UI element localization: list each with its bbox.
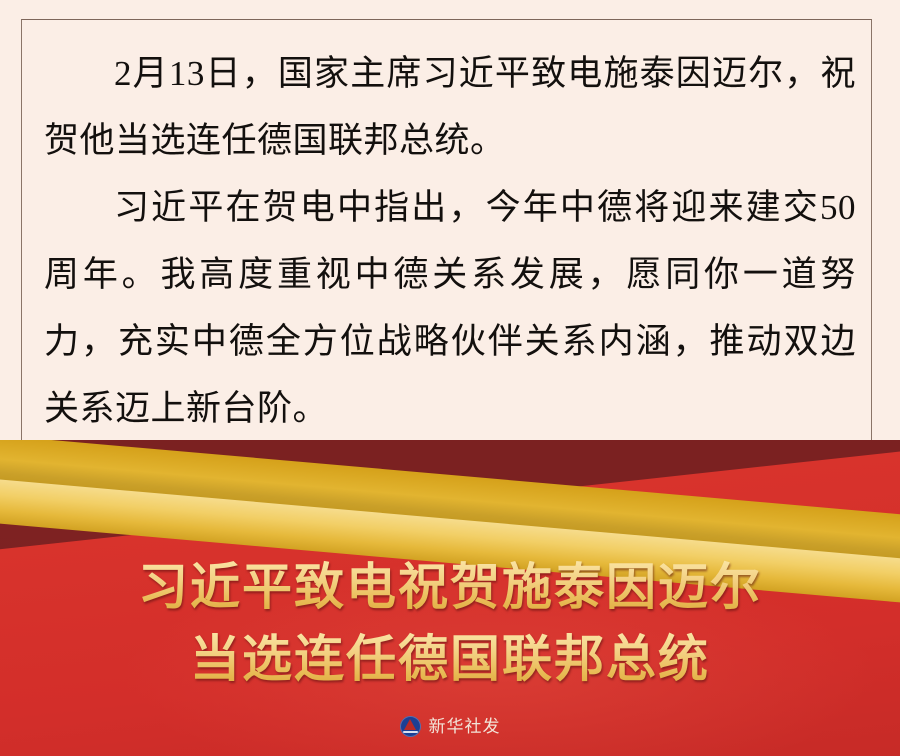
- headline-line-1: 习近平致电祝贺施泰因迈尔: [0, 558, 900, 616]
- paragraph-2: 习近平在贺电中指出，今年中德将迎来建交50周年。我高度重视中德关系发展，愿同你一…: [44, 174, 856, 442]
- article-body: 2月13日，国家主席习近平致电施泰因迈尔，祝贺他当选连任德国联邦总统。 习近平在…: [44, 40, 856, 442]
- news-poster: 2月13日，国家主席习近平致电施泰因迈尔，祝贺他当选连任德国联邦总统。 习近平在…: [0, 0, 900, 756]
- headline-line-2: 当选连任德国联邦总统: [0, 630, 900, 688]
- source-attribution: 新华社发: [0, 716, 900, 737]
- source-label: 新华社发: [429, 716, 501, 737]
- xinhua-logo-icon: [400, 716, 421, 737]
- headline: 习近平致电祝贺施泰因迈尔 当选连任德国联邦总统: [0, 558, 900, 688]
- paragraph-1: 2月13日，国家主席习近平致电施泰因迈尔，祝贺他当选连任德国联邦总统。: [44, 40, 856, 174]
